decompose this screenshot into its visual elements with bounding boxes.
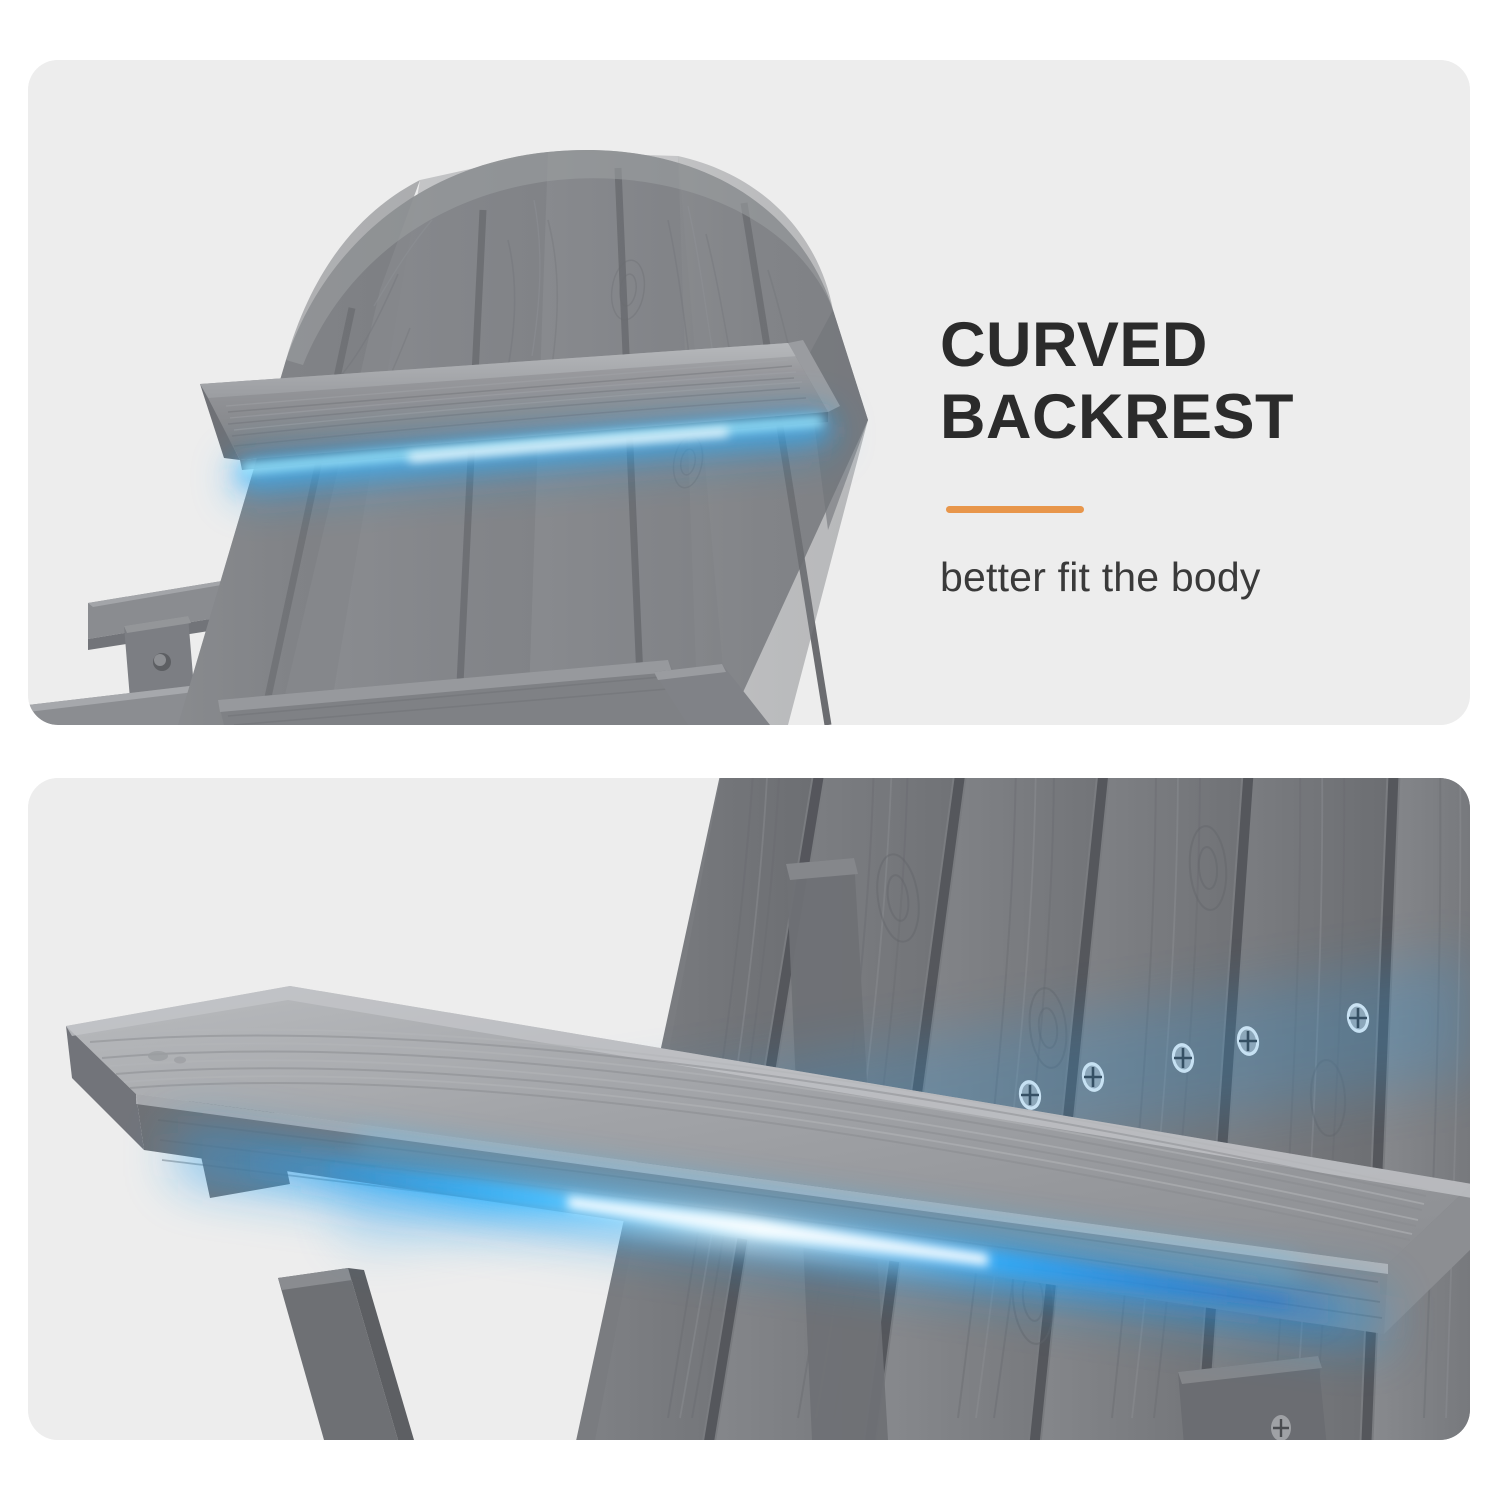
feature-panel-curved-backrest: CURVED BACKREST better fit the body	[28, 60, 1470, 725]
armrest-illustration	[28, 778, 1470, 1440]
panel-headline: CURVED BACKREST	[940, 310, 1460, 454]
copy-block-curved-backrest: CURVED BACKREST better fit the body	[940, 310, 1460, 601]
accent-rule	[946, 506, 1084, 513]
armrest-photo	[28, 778, 1470, 1440]
product-feature-graphic: CURVED BACKREST better fit the body	[0, 0, 1500, 1500]
panel-subline: better fit the body	[940, 554, 1460, 601]
feature-panel-wide-armrests: WIDE ARMRESTS for better arm relaxation	[28, 778, 1470, 1440]
